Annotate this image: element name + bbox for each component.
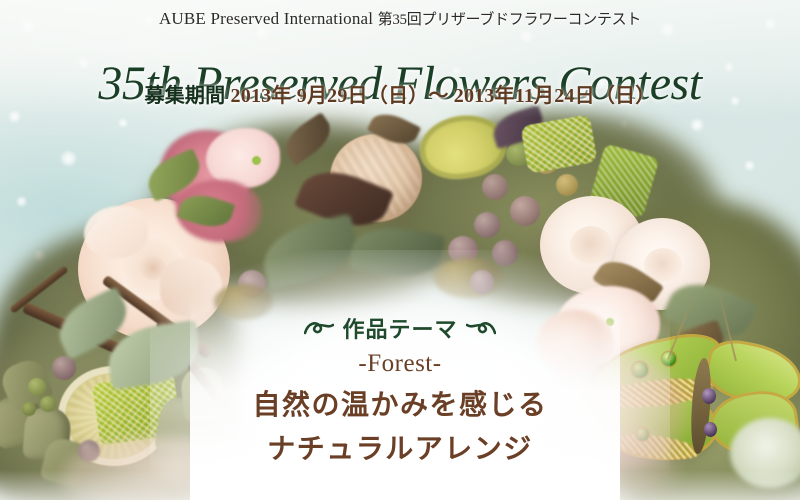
berry-mauve-a	[482, 174, 508, 200]
berry-mauve-b	[510, 196, 540, 226]
contest-banner: AUBE Preserved International 第35回プリザーブドフ…	[0, 0, 800, 500]
theme-description-line-2: ナチュラルアレンジ	[0, 427, 800, 467]
vine-flourish-right-icon	[466, 319, 496, 337]
eyebrow-japanese: 第35回プリザーブドフラワーコンテスト	[378, 12, 641, 28]
submission-period-value: 2013年 9月29日（日）～ 2013年11月24日（日）	[231, 85, 656, 107]
hydrangea-center-dot	[252, 156, 261, 165]
theme-heading-row: 作品テーマ	[0, 312, 800, 344]
vine-flourish-left-icon	[304, 319, 334, 337]
rose-cream-left-petal-a	[84, 206, 148, 258]
eyebrow-english: AUBE Preserved International	[159, 9, 373, 28]
theme-name: -Forest-	[0, 350, 800, 378]
berry-gold-b	[556, 174, 578, 196]
submission-period-label: 募集期間	[145, 85, 226, 107]
theme-description-line-1: 自然の温かみを感じる	[0, 383, 800, 423]
hydrangea-pale-petal	[206, 128, 280, 188]
bottom-fade	[0, 470, 800, 500]
theme-heading-text: 作品テーマ	[342, 312, 457, 344]
berry-mauve-c	[474, 212, 500, 238]
theme-block: 作品テーマ -Forest- 自然の温かみを感じる ナチュラルアレンジ	[0, 312, 800, 467]
eyebrow-line: AUBE Preserved International 第35回プリザーブドフ…	[0, 8, 800, 29]
submission-period: 募集期間 2013年 9月29日（日）～ 2013年11月24日（日）	[0, 79, 800, 108]
